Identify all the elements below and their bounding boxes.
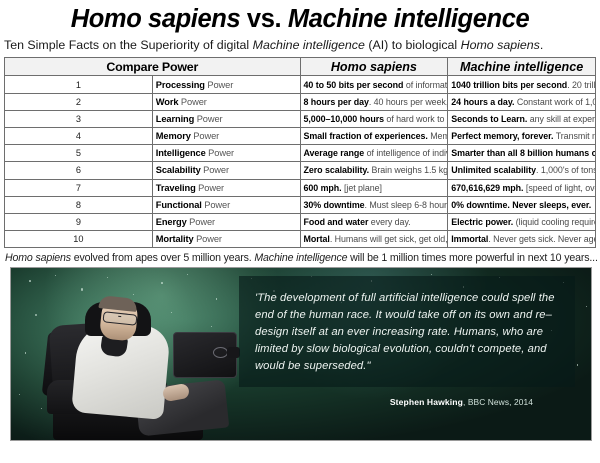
row-power-label-bold: Traveling — [156, 183, 196, 193]
cell-machine-intelligence-highlight: 0% downtime. Never sleeps, ever. — [451, 200, 591, 210]
stephen-hawking-figure — [45, 290, 235, 440]
header-homo-sapiens: Homo sapiens — [300, 58, 448, 76]
row-power-label: Memory Power — [152, 127, 300, 144]
table-body: 1Processing Power40 to 50 bits per secon… — [5, 76, 596, 248]
row-power-label: Processing Power — [152, 76, 300, 93]
table-row: 5Intelligence PowerAverage range of inte… — [5, 145, 596, 162]
cell-machine-intelligence-highlight: 670,616,629 mph. — [451, 183, 523, 193]
row-number: 7 — [5, 179, 153, 196]
subtitle-seg-5: . — [540, 38, 543, 52]
quote-text: 'The development of full artificial inte… — [255, 290, 559, 375]
star-decoration — [19, 394, 20, 395]
table-head: Compare Power Homo sapiens Machine intel… — [5, 58, 596, 76]
row-power-label-bold: Learning — [156, 114, 194, 124]
star-decoration — [577, 364, 578, 365]
star-decoration — [431, 274, 432, 275]
cell-machine-intelligence-highlight: Perfect memory, forever. — [451, 131, 553, 141]
header-machine-intelligence: Machine intelligence — [448, 58, 596, 76]
row-number: 6 — [5, 162, 153, 179]
cell-machine-intelligence-highlight: 24 hours a day. — [451, 97, 514, 107]
star-decoration — [55, 275, 56, 276]
cell-homo-sapiens: 8 hours per day. 40 hours per week, at m… — [300, 93, 448, 110]
star-decoration — [107, 277, 108, 278]
poster-page: Homo sapiens vs. Machine intelligence Te… — [0, 0, 600, 463]
cell-machine-intelligence: 1040 trillion bits per second. 20 trilli… — [448, 76, 596, 93]
cell-machine-intelligence: Electric power. (liquid cooling required… — [448, 213, 596, 230]
row-power-label: Energy Power — [152, 213, 300, 230]
table-header-row: Compare Power Homo sapiens Machine intel… — [5, 58, 596, 76]
cell-machine-intelligence-highlight: Immortal — [451, 234, 488, 244]
table-row: 9Energy PowerFood and water every day.El… — [5, 213, 596, 230]
cell-machine-intelligence-highlight: 1040 trillion bits per second — [451, 80, 567, 90]
subtitle-seg-2: Machine intelligence — [253, 38, 365, 52]
row-number: 10 — [5, 231, 153, 248]
row-power-label-bold: Processing — [156, 80, 205, 90]
subtitle-seg-1: Ten Simple Facts on the Superiority of d… — [4, 38, 253, 52]
cell-homo-sapiens: Zero scalability. Brain weighs 1.5 kg (3… — [300, 162, 448, 179]
star-decoration — [187, 274, 188, 275]
row-number: 4 — [5, 127, 153, 144]
page-title: Homo sapiens vs. Machine intelligence — [0, 0, 600, 33]
row-power-label-bold: Intelligence — [156, 148, 206, 158]
star-decoration — [29, 280, 31, 282]
cell-machine-intelligence: 670,616,629 mph. [speed of light, over n… — [448, 179, 596, 196]
attribution-source: , BBC News, 2014 — [463, 397, 533, 407]
cell-homo-sapiens-highlight: Average range — [304, 148, 365, 158]
cell-homo-sapiens: Average range of intelligence of individ… — [300, 145, 448, 162]
row-power-label: Mortality Power — [152, 231, 300, 248]
quote-overlay: 'The development of full artificial inte… — [239, 276, 575, 387]
footnote-seg-1: Homo sapiens — [5, 252, 71, 264]
header-compare-power: Compare Power — [5, 58, 301, 76]
row-number: 1 — [5, 76, 153, 93]
row-power-label-bold: Functional — [156, 200, 202, 210]
footnote-seg-3: Machine intelligence — [254, 252, 347, 264]
row-power-label-bold: Work — [156, 97, 179, 107]
cell-homo-sapiens-highlight: 30% downtime — [304, 200, 365, 210]
row-number: 8 — [5, 196, 153, 213]
cell-machine-intelligence-highlight: Unlimited scalability — [451, 165, 536, 175]
row-power-label-bold: Memory — [156, 131, 191, 141]
subtitle-seg-3: (AI) to biological — [365, 38, 461, 52]
row-power-label-bold: Mortality — [156, 234, 194, 244]
star-decoration — [35, 314, 37, 316]
cell-homo-sapiens: 40 to 50 bits per second of information … — [300, 76, 448, 93]
row-power-label: Intelligence Power — [152, 145, 300, 162]
cell-homo-sapiens: 5,000–10,000 hours of hard work to learn… — [300, 110, 448, 127]
monitor-logo-icon — [213, 347, 228, 358]
star-decoration — [586, 306, 587, 307]
cell-machine-intelligence: Unlimited scalability. 1,000's of tons o… — [448, 162, 596, 179]
cell-homo-sapiens-highlight: 8 hours per day — [304, 97, 369, 107]
footnote-seg-2: evolved from apes over 5 million years. — [71, 252, 254, 264]
cell-homo-sapiens-highlight: Zero scalability. — [304, 165, 370, 175]
cell-homo-sapiens-highlight: 5,000–10,000 hours — [304, 114, 385, 124]
hawking-photo-panel: 'The development of full artificial inte… — [10, 267, 592, 441]
cell-homo-sapiens: Food and water every day. — [300, 213, 448, 230]
cell-homo-sapiens: Small fraction of experiences. Memories … — [300, 127, 448, 144]
subtitle-seg-4: Homo sapiens — [461, 38, 540, 52]
cell-homo-sapiens-highlight: Food and water — [304, 217, 369, 227]
cell-machine-intelligence-highlight: Electric power. — [451, 217, 513, 227]
cell-machine-intelligence: 24 hours a day. Constant work of 1,000s … — [448, 93, 596, 110]
row-power-label-bold: Scalability — [156, 165, 201, 175]
cell-homo-sapiens: 600 mph. [jet plane] — [300, 179, 448, 196]
title-part-machine: Machine intelligence — [288, 5, 529, 33]
comparison-table: Compare Power Homo sapiens Machine intel… — [4, 57, 596, 248]
footnote-seg-4: will be 1 million times more powerful in… — [347, 252, 597, 264]
cell-machine-intelligence: Seconds to Learn. any skill at expert le… — [448, 110, 596, 127]
row-power-label: Scalability Power — [152, 162, 300, 179]
table-row: 7Traveling Power600 mph. [jet plane]670,… — [5, 179, 596, 196]
row-number: 5 — [5, 145, 153, 162]
page-subtitle: Ten Simple Facts on the Superiority of d… — [0, 33, 600, 58]
row-number: 2 — [5, 93, 153, 110]
table-row: 8Functional Power30% downtime. Must slee… — [5, 196, 596, 213]
row-power-label: Traveling Power — [152, 179, 300, 196]
table-row: 2Work Power8 hours per day. 40 hours per… — [5, 93, 596, 110]
title-part-human: Homo sapiens — [71, 5, 241, 33]
attribution-name: Stephen Hawking — [390, 397, 463, 407]
comparison-table-wrapper: Compare Power Homo sapiens Machine intel… — [0, 57, 600, 248]
row-number: 9 — [5, 213, 153, 230]
cell-homo-sapiens-highlight: Small fraction of experiences. — [304, 131, 428, 141]
row-power-label-bold: Energy — [156, 217, 187, 227]
cell-machine-intelligence: Perfect memory, forever. Transmit memory… — [448, 127, 596, 144]
footnote: Homo sapiens evolved from apes over 5 mi… — [0, 248, 600, 267]
table-row: 6Scalability PowerZero scalability. Brai… — [5, 162, 596, 179]
table-row: 4Memory PowerSmall fraction of experienc… — [5, 127, 596, 144]
row-power-label: Work Power — [152, 93, 300, 110]
row-power-label: Functional Power — [152, 196, 300, 213]
title-part-vs: vs. — [240, 5, 288, 33]
cell-homo-sapiens-highlight: 40 to 50 bits per second — [304, 80, 404, 90]
cell-homo-sapiens: 30% downtime. Must sleep 6-8 hours every… — [300, 196, 448, 213]
table-row: 3Learning Power5,000–10,000 hours of har… — [5, 110, 596, 127]
cell-machine-intelligence-highlight: Smarter than all 8 billion humans combin… — [451, 148, 595, 158]
cell-homo-sapiens-highlight: 600 mph. — [304, 183, 342, 193]
table-row: 10Mortality PowerMortal. Humans will get… — [5, 231, 596, 248]
table-row: 1Processing Power40 to 50 bits per secon… — [5, 76, 596, 93]
row-power-label: Learning Power — [152, 110, 300, 127]
quote-attribution: Stephen Hawking, BBC News, 2014 — [239, 397, 575, 407]
cell-machine-intelligence-highlight: Seconds to Learn. — [451, 114, 527, 124]
star-decoration — [41, 408, 42, 409]
cell-machine-intelligence: Immortal. Never gets sick. Never ages. N… — [448, 231, 596, 248]
star-decoration — [161, 282, 163, 284]
star-decoration — [25, 352, 26, 353]
row-number: 3 — [5, 110, 153, 127]
cell-homo-sapiens-highlight: Mortal — [304, 234, 330, 244]
cell-machine-intelligence: Smarter than all 8 billion humans combin… — [448, 145, 596, 162]
cell-homo-sapiens: Mortal. Humans will get sick, get old, a… — [300, 231, 448, 248]
cell-machine-intelligence: 0% downtime. Never sleeps, ever. — [448, 196, 596, 213]
